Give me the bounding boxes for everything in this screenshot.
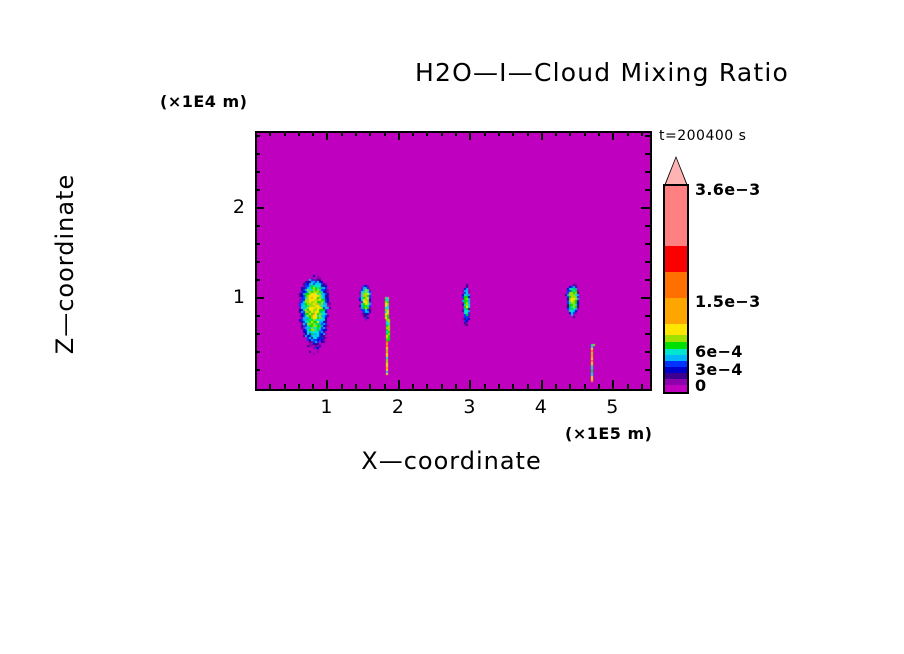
x-minor-tick bbox=[569, 384, 571, 389]
y-minor-tick-right bbox=[645, 261, 650, 263]
x-tick-label: 5 bbox=[592, 396, 632, 418]
colorbar-extend-arrow-icon bbox=[665, 158, 687, 186]
colorbar-segment bbox=[665, 246, 687, 273]
x-minor-tick bbox=[484, 384, 486, 389]
x-axis-unit-label: (×1E5 m) bbox=[565, 424, 652, 443]
x-major-tick-top bbox=[612, 131, 614, 140]
x-minor-tick bbox=[412, 384, 414, 389]
x-minor-tick-top bbox=[341, 131, 343, 136]
x-minor-tick-top bbox=[269, 131, 271, 136]
x-minor-tick bbox=[269, 384, 271, 389]
y-tick-label: 2 bbox=[205, 196, 245, 218]
y-minor-tick-right bbox=[645, 153, 650, 155]
colorbar-segment bbox=[665, 272, 687, 299]
colorbar-gradient bbox=[665, 186, 687, 392]
x-major-tick bbox=[469, 380, 471, 389]
x-minor-tick bbox=[298, 384, 300, 389]
colorbar-segment bbox=[665, 385, 687, 393]
y-major-tick-right bbox=[641, 297, 650, 299]
field-heatmap bbox=[257, 133, 650, 389]
x-minor-tick-top bbox=[527, 131, 529, 136]
y-axis-unit-label: (×1E4 m) bbox=[160, 92, 247, 111]
x-tick-label: 3 bbox=[449, 396, 489, 418]
y-minor-tick bbox=[255, 171, 260, 173]
y-minor-tick bbox=[255, 225, 260, 227]
y-minor-tick bbox=[255, 369, 260, 371]
x-minor-tick-top bbox=[512, 131, 514, 136]
x-minor-tick bbox=[369, 384, 371, 389]
x-minor-tick-top bbox=[355, 131, 357, 136]
figure-root: H2O—I—Cloud Mixing Ratio (×1E4 m) t=2004… bbox=[0, 0, 904, 654]
x-major-tick-top bbox=[398, 131, 400, 140]
y-minor-tick bbox=[255, 279, 260, 281]
x-tick-label: 1 bbox=[306, 396, 346, 418]
x-minor-tick bbox=[341, 384, 343, 389]
y-minor-tick-right bbox=[645, 135, 650, 137]
colorbar-tick-label: 1.5e−3 bbox=[695, 292, 761, 311]
y-minor-tick-right bbox=[645, 369, 650, 371]
x-minor-tick-top bbox=[584, 131, 586, 136]
colorbar-segment bbox=[665, 186, 687, 247]
x-minor-tick bbox=[426, 384, 428, 389]
y-minor-tick-right bbox=[645, 243, 650, 245]
y-minor-tick-right bbox=[645, 351, 650, 353]
colorbar[interactable]: 3.6e−31.5e−36e−43e−40 bbox=[665, 186, 687, 392]
x-minor-tick bbox=[555, 384, 557, 389]
x-axis-title: X—coordinate bbox=[255, 447, 648, 475]
x-minor-tick-top bbox=[298, 131, 300, 136]
x-major-tick-top bbox=[541, 131, 543, 140]
x-major-tick-top bbox=[469, 131, 471, 140]
x-minor-tick bbox=[512, 384, 514, 389]
x-minor-tick bbox=[441, 384, 443, 389]
x-minor-tick-top bbox=[426, 131, 428, 136]
y-minor-tick bbox=[255, 261, 260, 263]
y-minor-tick-right bbox=[645, 333, 650, 335]
y-minor-tick bbox=[255, 243, 260, 245]
x-major-tick bbox=[326, 380, 328, 389]
y-minor-tick bbox=[255, 153, 260, 155]
x-minor-tick bbox=[598, 384, 600, 389]
y-major-tick-right bbox=[641, 207, 650, 209]
y-minor-tick-right bbox=[645, 315, 650, 317]
x-minor-tick bbox=[641, 384, 643, 389]
y-minor-tick-right bbox=[645, 225, 650, 227]
y-axis-title: Z—coordinate bbox=[51, 139, 79, 389]
x-minor-tick bbox=[312, 384, 314, 389]
x-tick-label: 4 bbox=[521, 396, 561, 418]
x-minor-tick-top bbox=[498, 131, 500, 136]
x-minor-tick-top bbox=[455, 131, 457, 136]
colorbar-tick-label: 6e−4 bbox=[695, 342, 743, 361]
x-tick-label: 2 bbox=[378, 396, 418, 418]
x-minor-tick-top bbox=[569, 131, 571, 136]
x-minor-tick bbox=[498, 384, 500, 389]
x-major-tick bbox=[398, 380, 400, 389]
y-minor-tick bbox=[255, 333, 260, 335]
x-minor-tick-top bbox=[369, 131, 371, 136]
x-minor-tick bbox=[355, 384, 357, 389]
x-minor-tick-top bbox=[555, 131, 557, 136]
x-minor-tick-top bbox=[284, 131, 286, 136]
colorbar-tick-label: 0 bbox=[695, 376, 706, 395]
y-minor-tick bbox=[255, 189, 260, 191]
y-minor-tick bbox=[255, 315, 260, 317]
x-minor-tick bbox=[584, 384, 586, 389]
y-tick-label: 1 bbox=[205, 286, 245, 308]
colorbar-tick-label: 3.6e−3 bbox=[695, 180, 761, 199]
x-minor-tick-top bbox=[384, 131, 386, 136]
x-minor-tick bbox=[527, 384, 529, 389]
x-minor-tick bbox=[284, 384, 286, 389]
y-minor-tick-right bbox=[645, 171, 650, 173]
y-minor-tick-right bbox=[645, 189, 650, 191]
x-minor-tick-top bbox=[627, 131, 629, 136]
plot-area[interactable] bbox=[255, 131, 652, 391]
x-minor-tick-top bbox=[312, 131, 314, 136]
x-minor-tick bbox=[384, 384, 386, 389]
x-minor-tick bbox=[455, 384, 457, 389]
x-minor-tick-top bbox=[598, 131, 600, 136]
y-major-tick bbox=[255, 297, 264, 299]
y-minor-tick-right bbox=[645, 279, 650, 281]
x-major-tick bbox=[541, 380, 543, 389]
y-minor-tick bbox=[255, 351, 260, 353]
y-minor-tick bbox=[255, 135, 260, 137]
x-major-tick-top bbox=[326, 131, 328, 140]
x-minor-tick-top bbox=[641, 131, 643, 136]
x-minor-tick-top bbox=[441, 131, 443, 136]
chart-title-wrapper: H2O—I—Cloud Mixing Ratio bbox=[150, 58, 700, 87]
chart-title: H2O—I—Cloud Mixing Ratio bbox=[150, 58, 904, 87]
time-annotation: t=200400 s bbox=[659, 128, 746, 144]
colorbar-segment bbox=[665, 324, 687, 336]
x-minor-tick bbox=[627, 384, 629, 389]
x-minor-tick-top bbox=[484, 131, 486, 136]
colorbar-segment bbox=[665, 298, 687, 325]
y-major-tick bbox=[255, 207, 264, 209]
x-minor-tick-top bbox=[412, 131, 414, 136]
x-major-tick bbox=[612, 380, 614, 389]
